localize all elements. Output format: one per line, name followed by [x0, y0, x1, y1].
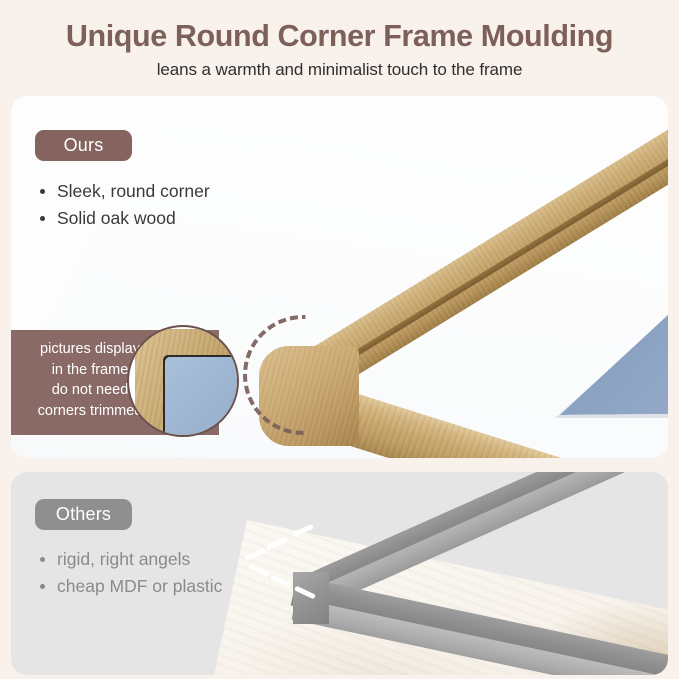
page-subtitle: leans a warmth and minimalist touch to t…: [0, 60, 679, 80]
header: Unique Round Corner Frame Moulding leans…: [0, 0, 679, 92]
list-item: cheap MDF or plastic: [38, 573, 222, 600]
badge-ours-label: Ours: [64, 135, 104, 156]
inset-blue-mat: [165, 357, 239, 437]
badge-others-label: Others: [56, 504, 111, 525]
badge-ours: Ours: [35, 130, 132, 161]
product-comparison-page: Unique Round Corner Frame Moulding leans…: [0, 0, 679, 679]
list-item: Sleek, round corner: [38, 178, 210, 205]
ours-feature-list: Sleek, round corner Solid oak wood: [38, 178, 210, 231]
callout-inset-photo: [127, 325, 239, 437]
list-item: Solid oak wood: [38, 205, 210, 232]
right-angle-dashed-bracket-icon: [258, 528, 328, 602]
others-feature-list: rigid, right angels cheap MDF or plastic: [38, 546, 222, 599]
panel-ours: Ours Sleek, round corner Solid oak wood …: [11, 96, 668, 458]
page-title: Unique Round Corner Frame Moulding: [0, 19, 679, 54]
badge-others: Others: [35, 499, 132, 530]
list-item: rigid, right angels: [38, 546, 222, 573]
panel-others: Others rigid, right angels cheap MDF or …: [11, 472, 668, 675]
